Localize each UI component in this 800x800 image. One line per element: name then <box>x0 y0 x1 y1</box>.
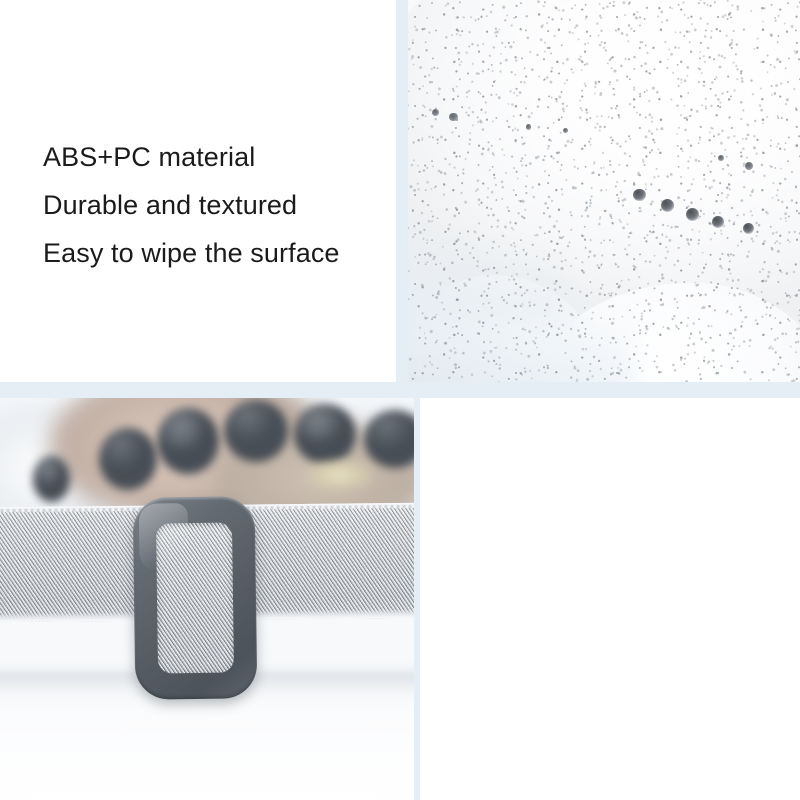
buckle-highlight <box>139 503 189 572</box>
shell-vent-hole-4 <box>712 216 724 228</box>
material-copy-line-1: ABS+PC material <box>43 133 340 181</box>
material-copy-line-2: Durable and textured <box>43 181 340 229</box>
massage-node-5 <box>294 404 356 464</box>
strap-adjuster-buckle <box>133 496 258 700</box>
backdrop-glint <box>306 460 372 490</box>
shell-speckle-layer-c <box>408 0 800 382</box>
shell-vent-hole-1 <box>633 189 645 201</box>
shell-texture-photo <box>408 0 800 382</box>
feature-collage: ABS+PC material Durable and textured Eas… <box>0 0 800 800</box>
shell-pore-1 <box>432 109 439 116</box>
shell-pore-2 <box>449 113 458 122</box>
elastic-band-photo-panel <box>0 398 414 800</box>
massage-node-3 <box>157 408 219 474</box>
massage-node-4 <box>224 400 288 462</box>
material-copy-panel: ABS+PC material Durable and textured Eas… <box>0 0 396 382</box>
band-copy-panel: Elastic band design Comfortable to wear … <box>420 398 800 800</box>
material-copy-block: ABS+PC material Durable and textured Eas… <box>43 133 340 277</box>
shell-texture-photo-panel <box>408 0 800 382</box>
material-copy-line-3: Easy to wipe the surface <box>43 229 340 277</box>
shell-vent-hole-2 <box>661 199 674 212</box>
elastic-band-photo <box>0 398 414 800</box>
massage-node-2 <box>99 428 157 490</box>
